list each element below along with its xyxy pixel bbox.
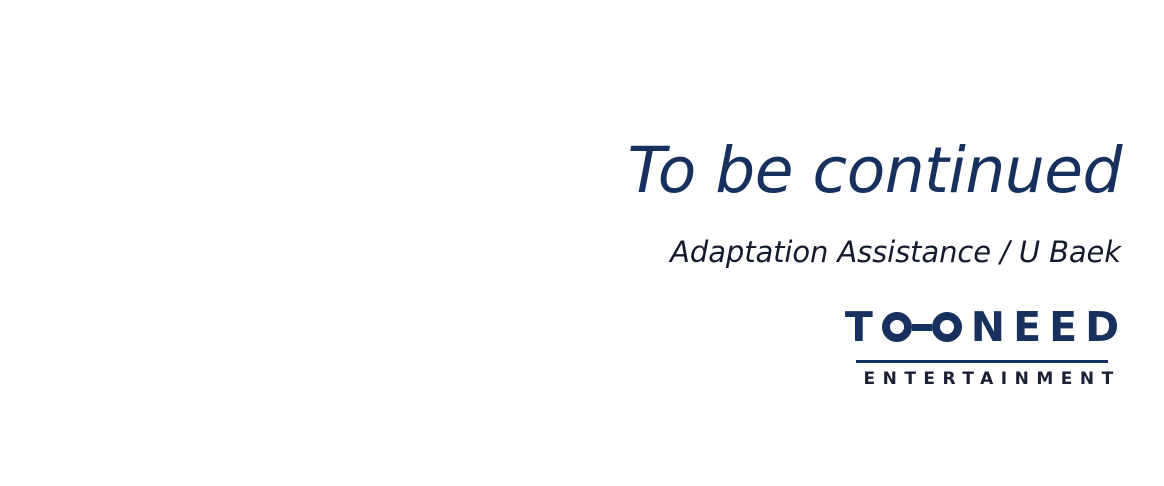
tooneed-logo: T N E E D ENTERTAINMENT [856,306,1108,388]
logo-ring-left-icon [882,312,912,342]
logo-letter-d: D [1085,307,1119,348]
logo-wordmark: T N E E D [856,306,1108,348]
logo-ring-right-icon [932,312,962,342]
credits-line: Adaptation Assistance / U Baek [670,238,1121,267]
logo-divider [856,360,1108,363]
logo-letter-t: T [845,307,873,348]
logo-tagline: ENTERTAINMENT [856,371,1108,388]
logo-letter-e-second: E [1049,307,1077,348]
logo-connector-bar-icon [912,324,932,331]
logo-letter-n: N [971,307,1005,348]
page-title: To be continued [628,139,1122,202]
logo-linked-o-icon [882,306,962,348]
end-card: To be continued Adaptation Assistance / … [0,0,1164,486]
logo-letter-e-first: E [1013,307,1041,348]
